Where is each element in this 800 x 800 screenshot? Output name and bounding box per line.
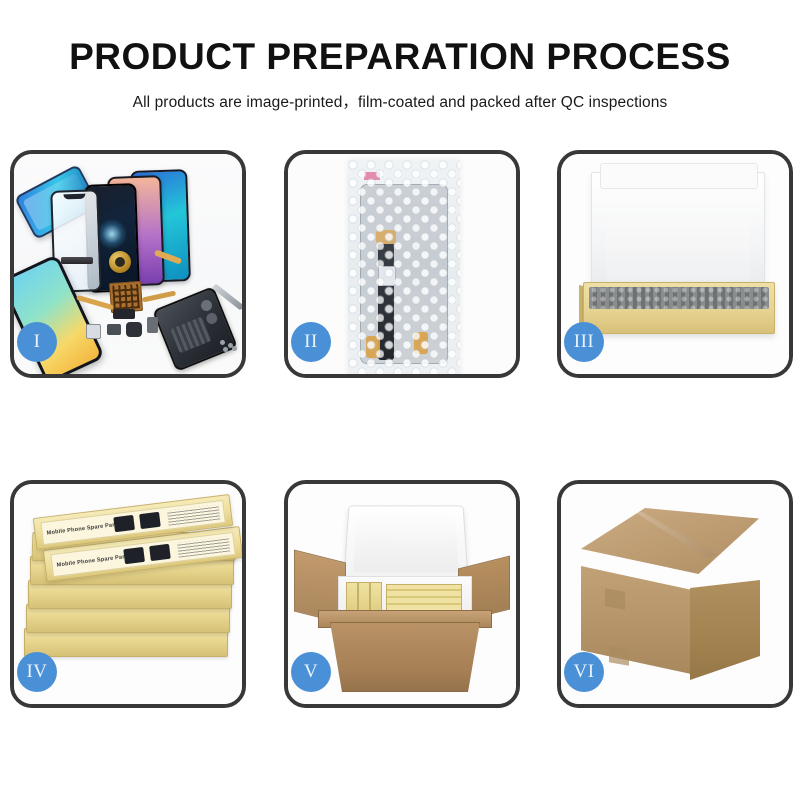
sealed-carton-top-icon <box>581 508 759 574</box>
process-step-panel-1: I <box>10 150 246 378</box>
process-step-panel-3: III <box>557 150 793 378</box>
page-title: PRODUCT PREPARATION PROCESS <box>0 0 800 77</box>
carton-tab-upper-icon <box>605 588 625 610</box>
page-subtitle: All products are image-printed，film-coat… <box>0 77 800 112</box>
small-part-bracket-icon <box>113 309 135 319</box>
label-screen-thumb-icon <box>139 512 161 529</box>
step-badge-1: I <box>17 322 57 362</box>
label-screen-thumb-icon <box>149 544 171 561</box>
product-preparation-process-page: PRODUCT PREPARATION PROCESS All products… <box>0 0 800 800</box>
step-badge-5: V <box>291 652 331 692</box>
carton-body-icon <box>330 622 480 692</box>
flex-cable-2-icon <box>142 291 176 303</box>
small-part-camera-icon <box>126 322 142 337</box>
page-header: PRODUCT PREPARATION PROCESS All products… <box>0 0 800 112</box>
label-screen-thumb-icon <box>123 547 145 564</box>
box-label-text: Mobile Phone Spare Parts <box>52 553 130 568</box>
step-badge-3: III <box>564 322 604 362</box>
label-spec-lines-icon <box>177 536 230 557</box>
step-badge-6: VI <box>564 652 604 692</box>
process-step-panel-6: VI <box>557 480 793 708</box>
foam-sheet-icon <box>591 172 765 292</box>
box-label-text: Mobile Phone Spare Parts <box>42 521 120 536</box>
small-part-connector-icon <box>86 324 101 339</box>
carton-tab-lower-icon <box>609 646 629 666</box>
screws-icon <box>220 340 236 352</box>
bubble-texture-icon <box>348 160 460 374</box>
speaker-module-icon <box>61 257 93 264</box>
foam-lid-icon <box>343 506 469 582</box>
small-part-battery-icon <box>147 317 158 333</box>
small-part-button-icon <box>107 324 121 335</box>
yellow-mailer-tray-icon <box>583 282 775 334</box>
wireless-coil-icon <box>109 251 131 273</box>
process-steps-grid: I II III <box>0 145 800 745</box>
label-screen-thumb-icon <box>113 515 135 532</box>
step-badge-2: II <box>291 322 331 362</box>
step-badge-4: IV <box>17 652 57 692</box>
process-step-panel-5: V <box>284 480 520 708</box>
label-spec-lines-icon <box>167 504 220 525</box>
process-step-panel-2: II <box>284 150 520 378</box>
bubble-wrap-bag-icon <box>348 160 460 374</box>
sealed-carton-side-icon <box>690 580 760 680</box>
process-step-panel-4: Mobile Phone Spare Parts Mobile Phone Sp… <box>10 480 246 708</box>
